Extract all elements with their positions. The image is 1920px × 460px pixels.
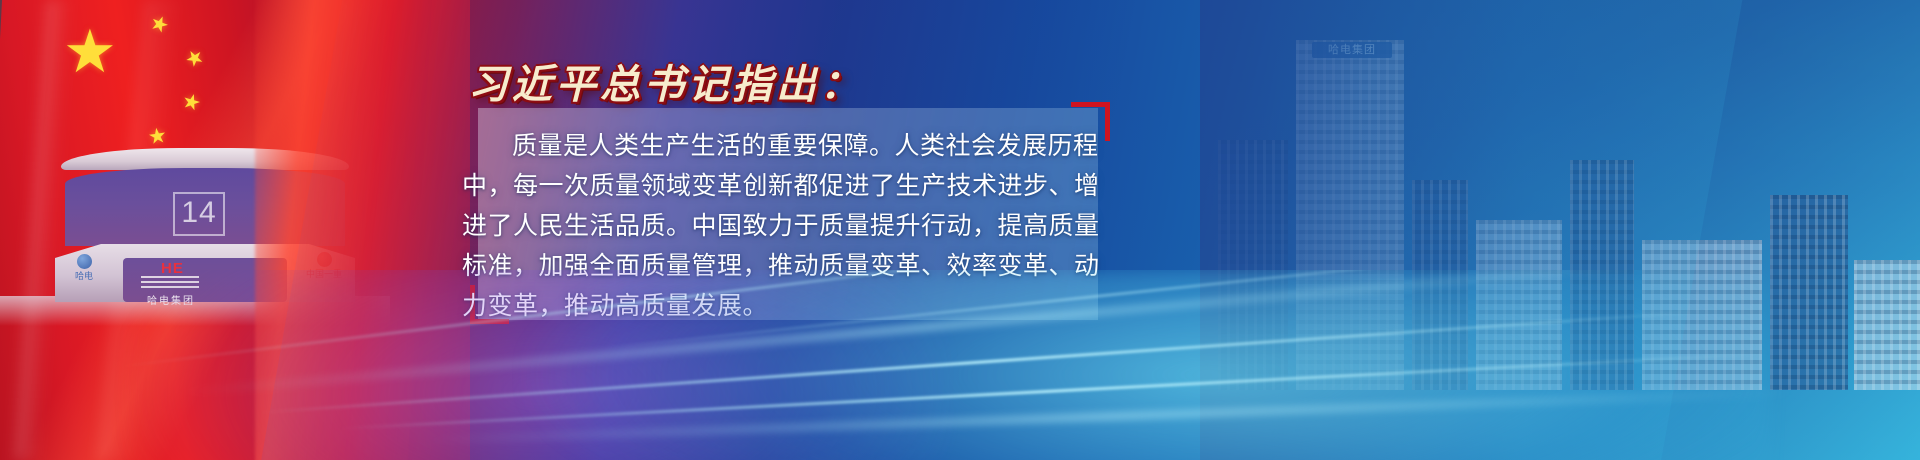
- city-skyline-scene: 哈电集团: [1200, 0, 1920, 460]
- quote-line: 标准，加强全面质量管理，推动质量变革、效率变革、动: [462, 246, 1110, 286]
- left-logo-badge-icon: [77, 254, 92, 269]
- flag-highlight: [255, 0, 470, 460]
- atmosphere-overlay: [1200, 0, 1920, 460]
- machine-brand-label: 哈电集团: [147, 292, 195, 307]
- quote-line: 质量是人类生产生活的重要保障。人类社会发展历程: [462, 126, 1110, 166]
- flag-star-small: ★: [147, 125, 169, 148]
- machine-stripe-decoration: [141, 276, 199, 290]
- flag-star-large: ★: [63, 22, 117, 82]
- quote-line: 进了人民生活品质。中国致力于质量提升行动，提高质量: [462, 206, 1110, 246]
- quote-line: 力变革，推动高质量发展。: [462, 286, 1110, 326]
- quote-line: 中，每一次质量领域变革创新都促进了生产技术进步、增: [462, 166, 1110, 206]
- left-corner-logo: 哈电: [63, 254, 105, 282]
- machine-logo: HE: [161, 260, 184, 277]
- quote-text-block: 质量是人类生产生活的重要保障。人类社会发展历程 中，每一次质量领域变革创新都促进…: [462, 126, 1110, 326]
- left-logo-text: 哈电: [75, 271, 93, 281]
- machine-number-label: 14: [173, 192, 225, 236]
- promo-banner: ★ ★ ★ ★ ★ 14 HE 哈电集团 哈电 中国一重: [0, 0, 1920, 460]
- flag-scene: ★ ★ ★ ★ ★ 14 HE 哈电集团 哈电 中国一重: [0, 0, 470, 460]
- page-title: 习近平总书记指出：: [468, 52, 864, 110]
